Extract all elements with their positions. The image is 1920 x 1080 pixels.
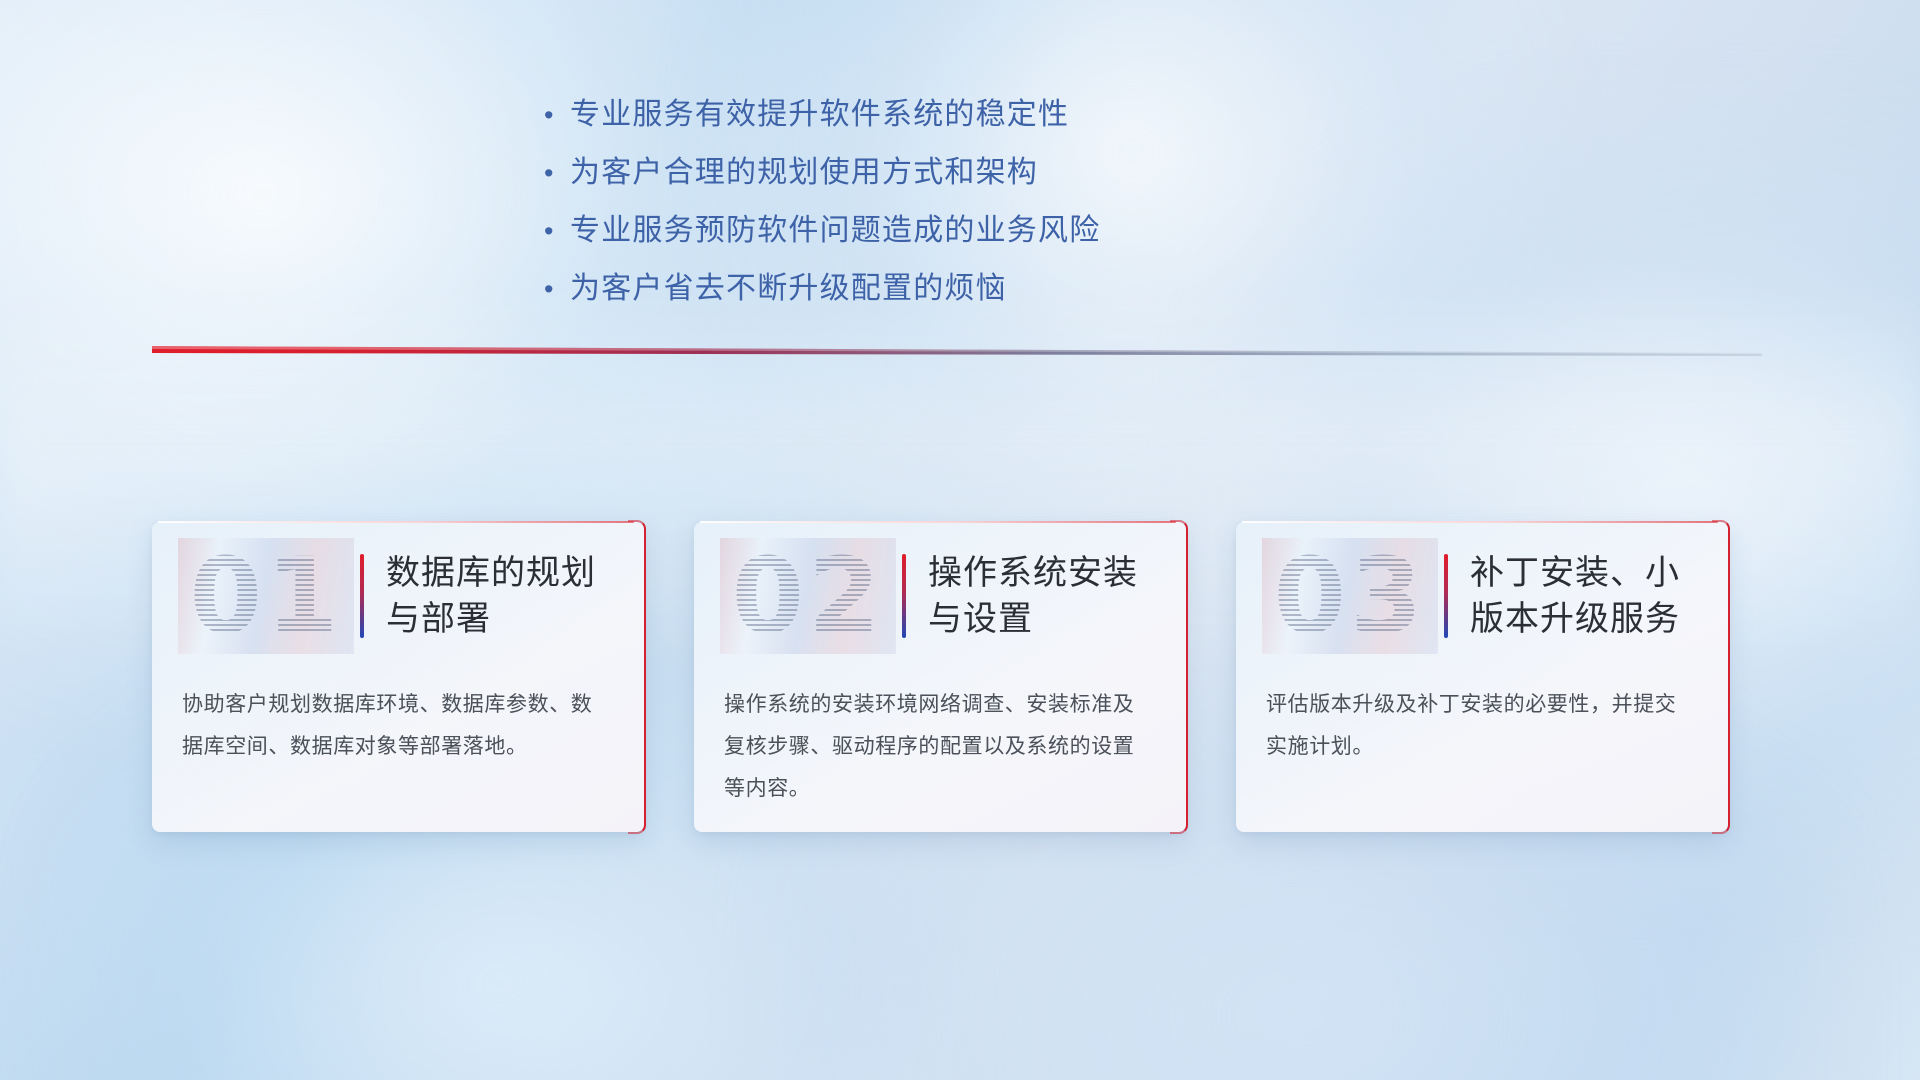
card-description: 操作系统的安装环境网络调查、安装标准及复核步骤、驱动程序的配置以及系统的设置等内… (694, 670, 1186, 810)
card-title-separator (902, 554, 906, 638)
service-card-02[interactable]: 02 操作系统安装与设置 操作系统的安装环境网络调查、安装标准及复核步骤、驱动程… (694, 522, 1186, 832)
card-header: 02 操作系统安装与设置 (694, 522, 1186, 670)
card-number-badge: 03 (1262, 538, 1438, 654)
bullet-marker-icon: • (540, 154, 570, 192)
bullet-marker-icon: • (540, 212, 570, 250)
benefits-bullet-list: • 专业服务有效提升软件系统的稳定性 • 为客户合理的规划使用方式和架构 • 专… (540, 96, 1540, 328)
bullet-text: 专业服务预防软件问题造成的业务风险 (570, 212, 1100, 250)
card-title: 操作系统安装与设置 (928, 550, 1154, 642)
bullet-text: 专业服务有效提升软件系统的稳定性 (570, 96, 1069, 134)
card-title: 数据库的规划与部署 (386, 550, 612, 642)
slide-canvas: • 专业服务有效提升软件系统的稳定性 • 为客户合理的规划使用方式和架构 • 专… (0, 0, 1920, 1080)
card-number: 01 (190, 544, 343, 648)
card-number: 03 (1274, 544, 1427, 648)
list-item: • 专业服务有效提升软件系统的稳定性 (540, 96, 1540, 134)
service-card-row: 01 数据库的规划与部署 协助客户规划数据库环境、数据库参数、数据库空间、数据库… (152, 522, 1772, 832)
card-description: 评估版本升级及补丁安装的必要性，并提交实施计划。 (1236, 670, 1728, 768)
card-number: 02 (732, 544, 885, 648)
card-title-separator (1444, 554, 1448, 638)
card-description: 协助客户规划数据库环境、数据库参数、数据库空间、数据库对象等部署落地。 (152, 670, 644, 768)
bullet-marker-icon: • (540, 270, 570, 308)
card-number-badge: 02 (720, 538, 896, 654)
service-card-03[interactable]: 03 补丁安装、小版本升级服务 评估版本升级及补丁安装的必要性，并提交实施计划。 (1236, 522, 1728, 832)
tapered-line-icon (152, 344, 1762, 362)
service-card-01[interactable]: 01 数据库的规划与部署 协助客户规划数据库环境、数据库参数、数据库空间、数据库… (152, 522, 644, 832)
card-number-badge: 01 (178, 538, 354, 654)
section-divider (152, 344, 1762, 362)
bullet-marker-icon: • (540, 96, 570, 134)
list-item: • 为客户省去不断升级配置的烦恼 (540, 270, 1540, 308)
card-header: 01 数据库的规划与部署 (152, 522, 644, 670)
card-header: 03 补丁安装、小版本升级服务 (1236, 522, 1728, 670)
list-item: • 专业服务预防软件问题造成的业务风险 (540, 212, 1540, 250)
card-title: 补丁安装、小版本升级服务 (1470, 550, 1696, 642)
list-item: • 为客户合理的规划使用方式和架构 (540, 154, 1540, 192)
bullet-text: 为客户合理的规划使用方式和架构 (570, 154, 1038, 192)
bullet-text: 为客户省去不断升级配置的烦恼 (570, 270, 1007, 308)
card-title-separator (360, 554, 364, 638)
